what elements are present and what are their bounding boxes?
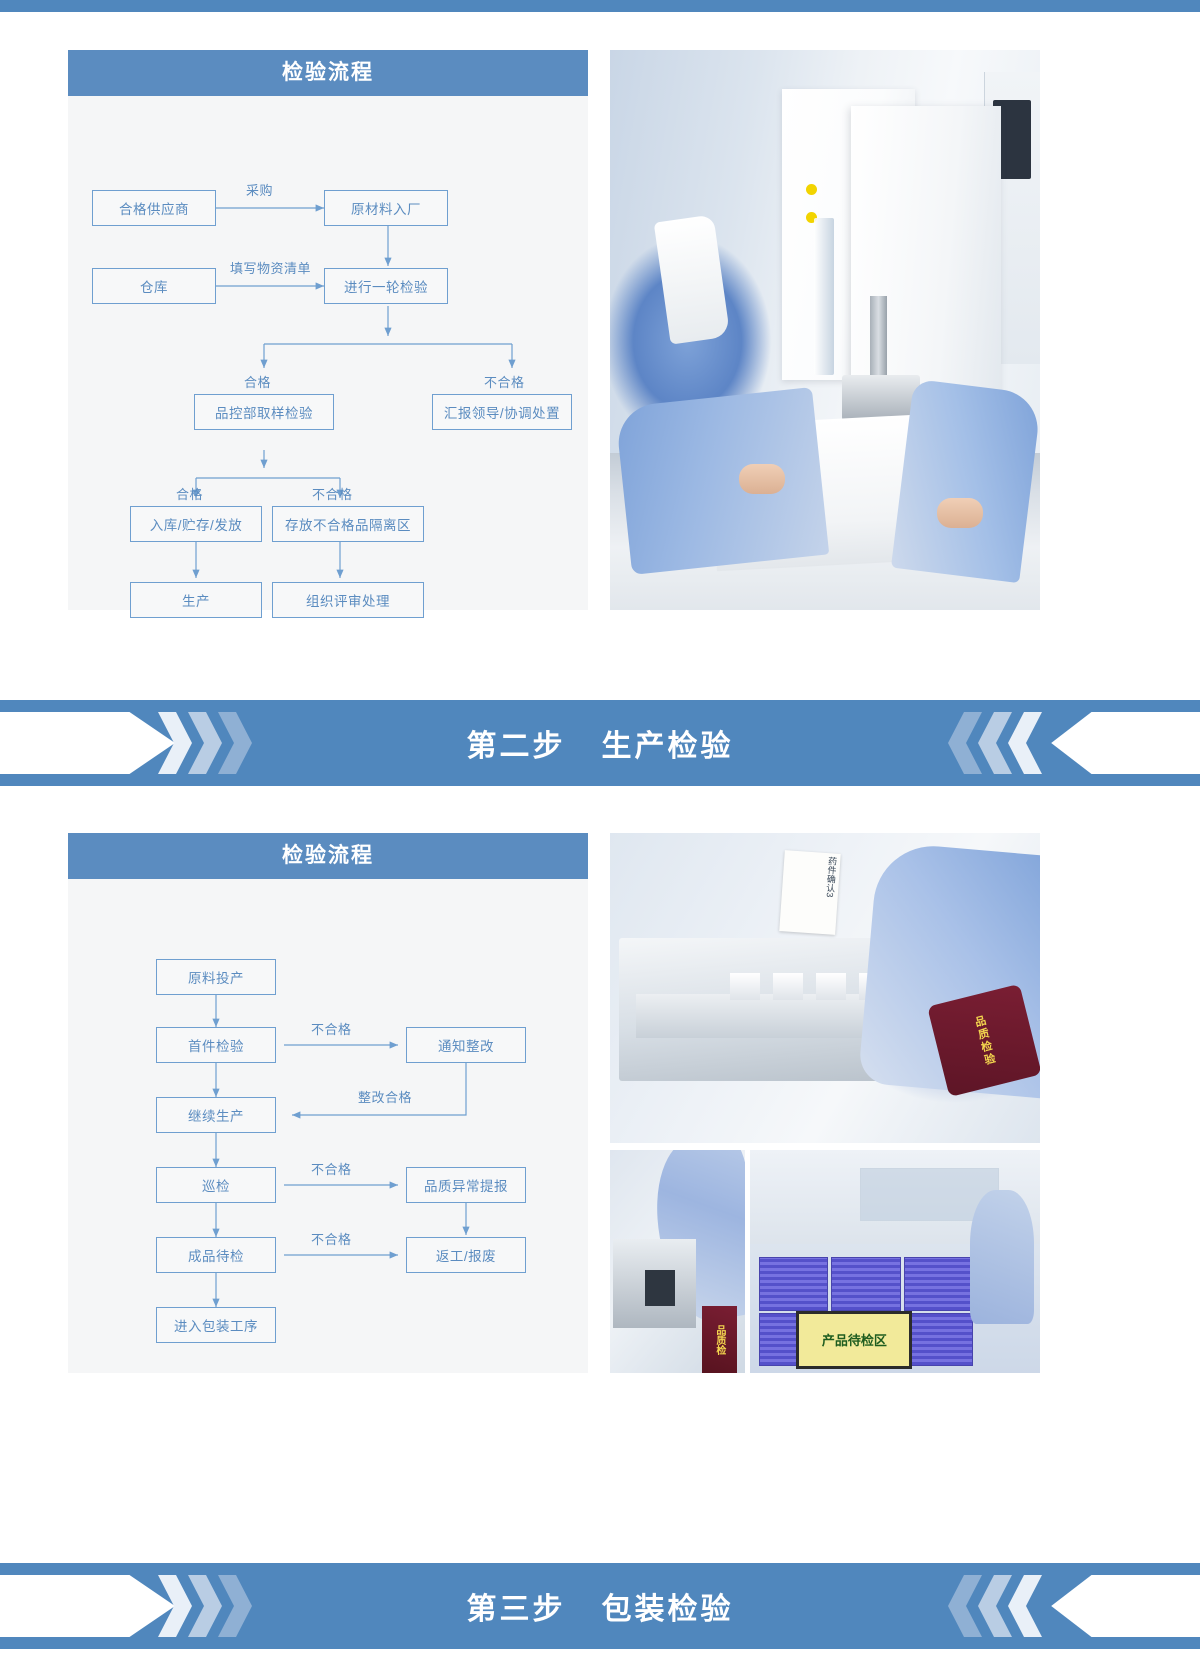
edge-label-rectification-pass: 整改合格 [358,1087,412,1106]
photo-packaging-line: 药件确认3 品质检验 [610,833,1040,1143]
operator-left-arm [615,387,829,575]
node-label: 成品待检 [188,1245,244,1265]
node-label: 生产 [182,590,210,610]
node-label: 首件检验 [188,1035,244,1055]
section1-card-body: 合格供应商 原材料入厂 仓库 进行一轮检验 品控部取样检验 汇报领导/协调处置 … [68,96,588,610]
flow-node-qc-sampling-inspection[interactable]: 品控部取样检验 [194,394,334,430]
banner-step-title: 包装检验 [602,1584,734,1628]
node-label: 巡检 [202,1175,230,1195]
node-label: 原料投产 [188,967,244,987]
top-accent-strip [0,0,1200,12]
flow-node-quality-abnormality-report[interactable]: 品质异常提报 [406,1167,526,1203]
operator-right-arm [891,379,1040,584]
step-banner-3: 第三步 包装检验 [0,1563,1200,1649]
node-label: 品质异常提报 [424,1175,508,1195]
banner-step-number: 第三步 [467,1584,566,1628]
flow-node-report-to-leader[interactable]: 汇报领导/协调处置 [432,394,572,430]
edge-label-fail-1: 不合格 [484,372,525,391]
node-label: 品控部取样检验 [215,402,313,422]
flow-node-finished-goods-pending[interactable]: 成品待检 [156,1237,276,1273]
node-label: 入库/贮存/发放 [150,514,243,534]
machine-badge-1 [806,184,817,195]
edge-label-procurement: 采购 [246,180,273,199]
node-label: 进入包装工序 [174,1315,258,1335]
node-label: 组织评审处理 [306,590,390,610]
edge-label-fail-patrol: 不合格 [311,1159,352,1178]
operator-right-hand [937,498,983,528]
section2-flow-card: 检验流程 [68,833,588,1373]
banner-label-group: 第三步 包装检验 [0,1563,1200,1649]
edge-label-fail-2: 不合格 [312,484,353,503]
flow-node-nonconforming-quarantine[interactable]: 存放不合格品隔离区 [272,506,424,542]
section1-card-title: 检验流程 [68,50,588,96]
banner-step-title: 生产检验 [602,721,734,765]
photo-inline-inspection: 品质检 [610,1150,745,1373]
machine-flow-tube [814,218,833,375]
edge-label-fail-first-article: 不合格 [311,1019,352,1038]
flow-node-storage-dispatch[interactable]: 入库/贮存/发放 [130,506,262,542]
section2-card-title: 检验流程 [68,833,588,879]
pending-inspection-sign: 产品待检区 [796,1311,912,1369]
flow-node-warehouse[interactable]: 仓库 [92,268,216,304]
edge-label-material-list: 填写物资清单 [230,258,311,277]
edge-label-pass-1: 合格 [244,372,271,391]
node-label: 继续生产 [188,1105,244,1125]
flow-node-notify-rectification[interactable]: 通知整改 [406,1027,526,1063]
banner-label-group: 第二步 生产检验 [0,700,1200,786]
flow-node-raw-material-intake[interactable]: 原材料入厂 [324,190,448,226]
machine-press-post [870,296,887,386]
section2-card-body: 原料投产 首件检验 通知整改 继续生产 巡检 品质异常提报 成品待检 返工/报废 [68,879,588,1373]
poster-page: 检验流程 [0,0,1200,1676]
product-carton-3 [816,973,846,1001]
node-label: 进行一轮检验 [344,276,428,296]
handwritten-note-tag: 药件确认3 [779,850,840,934]
edge-label-fail-finished: 不合格 [311,1229,352,1248]
node-label: 仓库 [140,276,168,296]
step-banner-2: 第二步 生产检验 [0,700,1200,786]
flow-node-first-article-inspection[interactable]: 首件检验 [156,1027,276,1063]
blue-crate-6 [904,1313,974,1367]
flow-node-enter-packaging[interactable]: 进入包装工序 [156,1307,276,1343]
flow-node-rework-or-scrap[interactable]: 返工/报废 [406,1237,526,1273]
node-label: 原材料入厂 [351,198,421,218]
flow-node-organize-review[interactable]: 组织评审处理 [272,582,424,618]
photo-cleanroom-operator [610,50,1040,610]
photo-pending-inspection-area: 产品待检区 [750,1150,1040,1373]
flow-node-continue-production[interactable]: 继续生产 [156,1097,276,1133]
section2-connector-lines [68,879,588,1373]
inspection-sensor [645,1270,675,1306]
banner-step-number: 第二步 [467,721,566,765]
node-label: 存放不合格品隔离区 [285,514,411,534]
blue-crate-3 [904,1257,974,1311]
node-label: 返工/报废 [436,1245,496,1265]
flow-node-raw-material-release[interactable]: 原料投产 [156,959,276,995]
inspector-armband: 品质检 [702,1306,737,1373]
flow-node-qualified-supplier[interactable]: 合格供应商 [92,190,216,226]
blue-crate-1 [759,1257,829,1311]
operator-left-hand [739,464,785,494]
node-label: 合格供应商 [119,198,189,218]
product-carton-2 [773,973,803,1001]
edge-label-pass-2: 合格 [176,484,203,503]
blue-crate-2 [831,1257,901,1311]
node-label: 通知整改 [438,1035,494,1055]
flow-node-patrol-inspection[interactable]: 巡检 [156,1167,276,1203]
operator-face-mask [653,214,730,344]
operator-in-aisle [970,1190,1034,1324]
product-carton-1 [730,973,760,1001]
section1-flow-card: 检验流程 [68,50,588,610]
flow-node-production[interactable]: 生产 [130,582,262,618]
node-label: 汇报领导/协调处置 [444,402,560,422]
flow-node-first-round-inspection[interactable]: 进行一轮检验 [324,268,448,304]
